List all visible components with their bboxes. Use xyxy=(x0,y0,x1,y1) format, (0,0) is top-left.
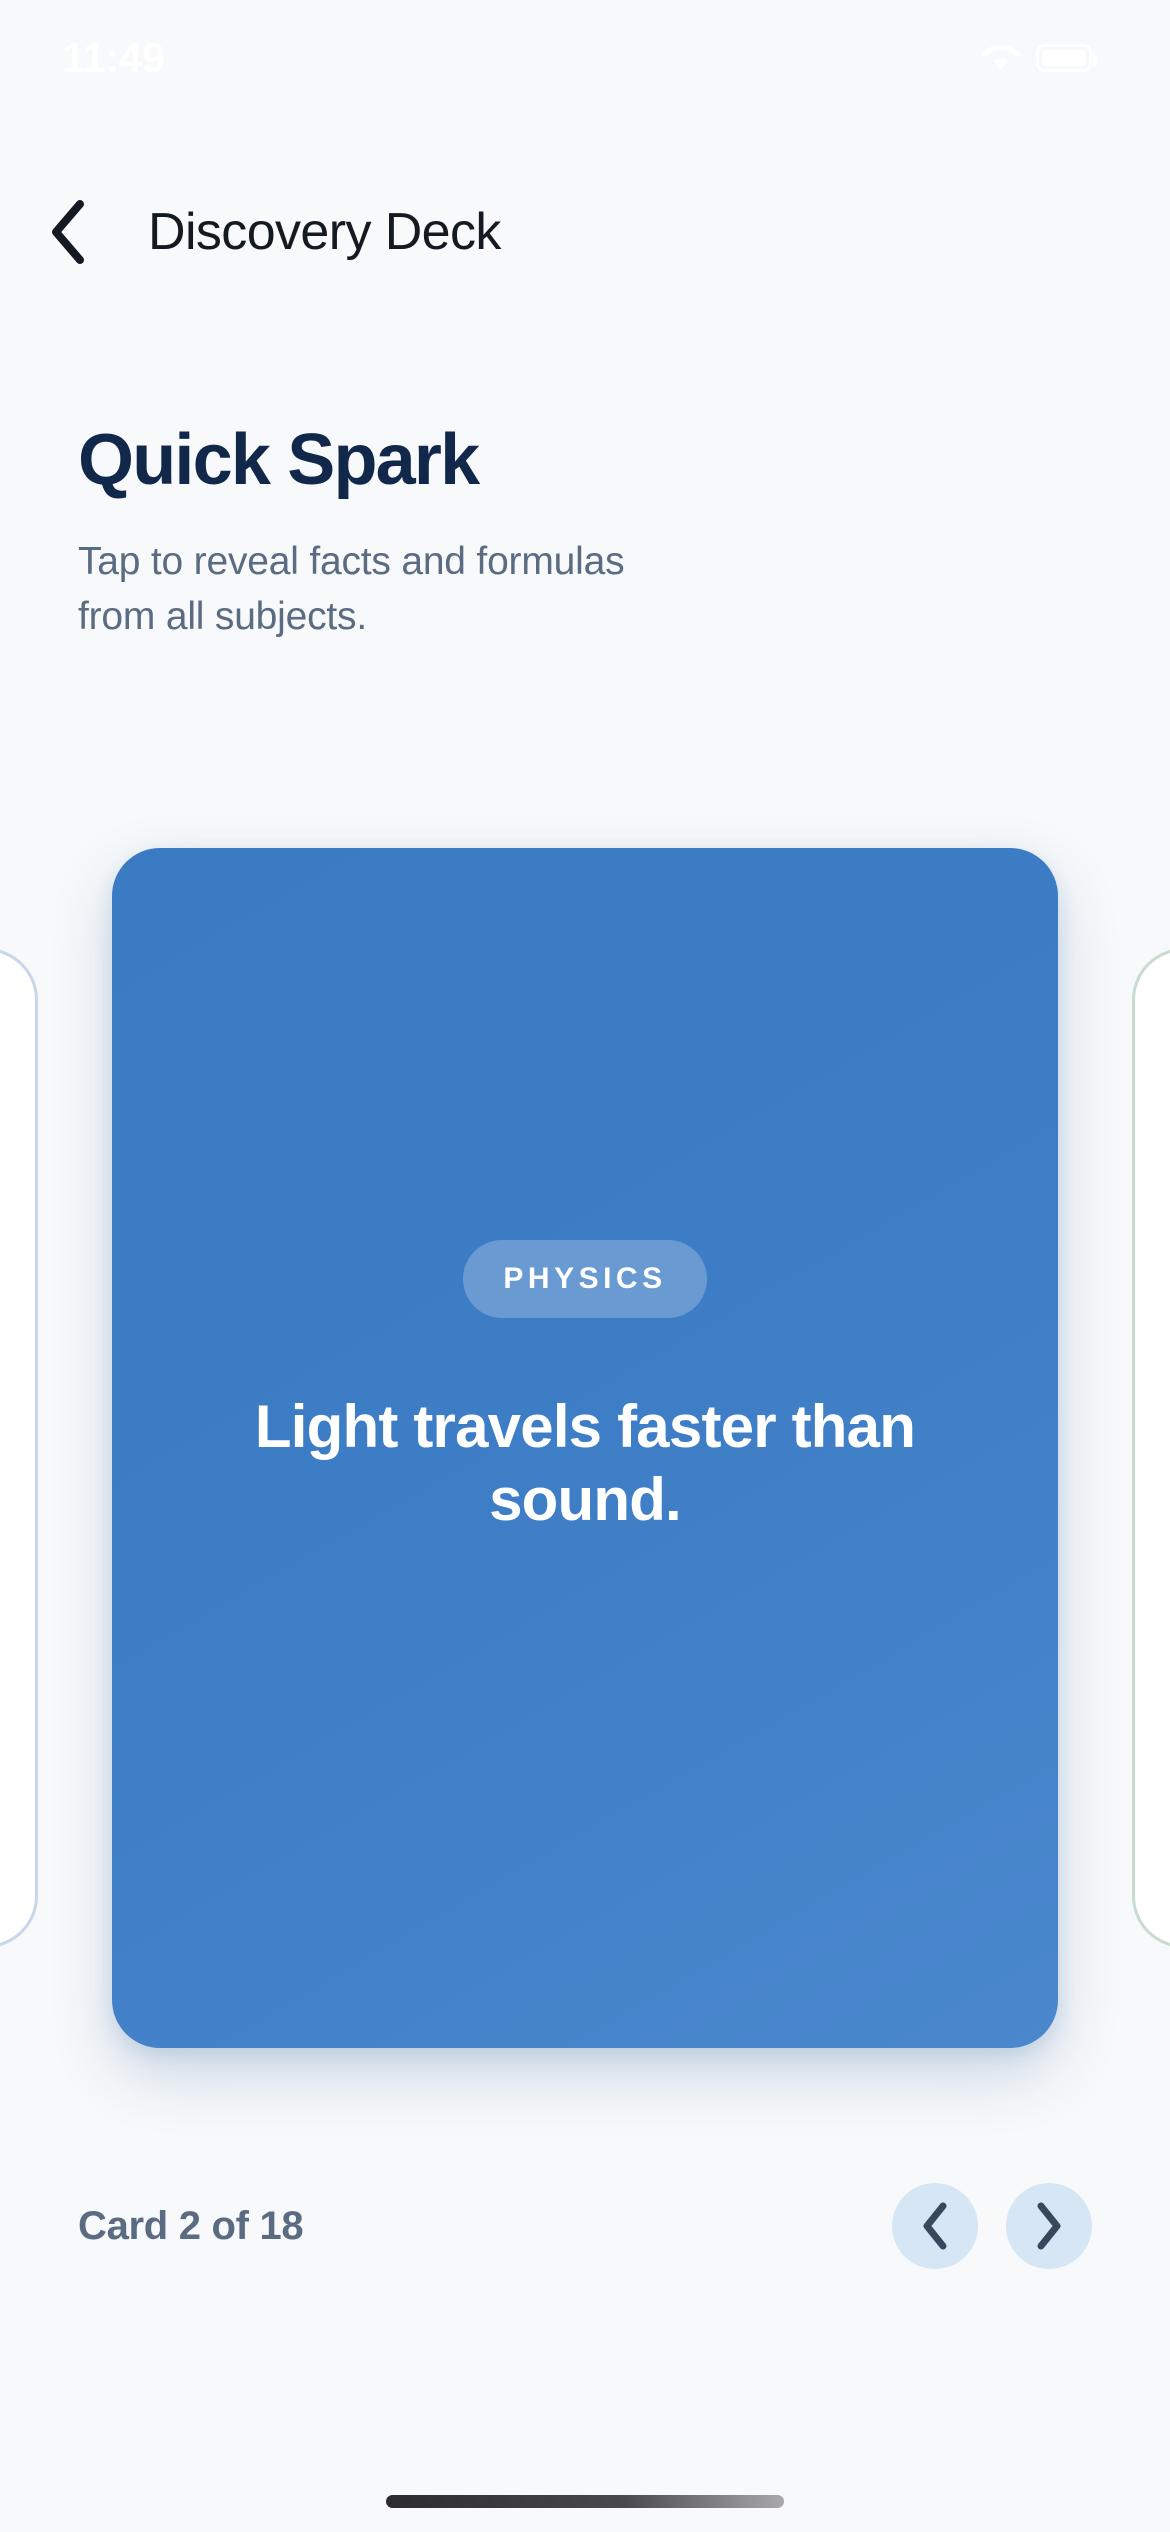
peek-card-next[interactable] xyxy=(1132,948,1170,1948)
deck-footer: Card 2 of 18 xyxy=(0,2168,1170,2284)
subject-badge: PHYSICS xyxy=(463,1240,706,1318)
previous-card-button[interactable] xyxy=(892,2183,978,2269)
home-indicator[interactable] xyxy=(386,2495,784,2508)
peek-card-previous[interactable] xyxy=(0,948,38,1948)
status-bar: 11:49 xyxy=(0,0,1170,100)
next-card-button[interactable] xyxy=(1006,2183,1092,2269)
card-counter: Card 2 of 18 xyxy=(78,2204,303,2249)
battery-icon xyxy=(1036,44,1092,72)
app-screen: 11:49 Discovery Deck Quick Spark Tap to … xyxy=(0,0,1170,2532)
flashcard[interactable]: PHYSICS Light travels faster than sound. xyxy=(112,848,1058,2048)
chevron-right-icon xyxy=(1032,2201,1066,2251)
chevron-left-icon xyxy=(918,2201,952,2251)
wifi-icon xyxy=(980,43,1022,73)
status-bar-indicators xyxy=(980,43,1092,73)
chevron-left-icon xyxy=(46,198,90,266)
card-navigation-controls xyxy=(892,2183,1092,2269)
flashcard-text: Light travels faster than sound. xyxy=(195,1390,975,1536)
card-deck: PHYSICS Light travels faster than sound. xyxy=(0,848,1170,2048)
status-bar-time: 11:49 xyxy=(62,34,165,82)
navigation-bar: Discovery Deck xyxy=(0,172,1170,292)
heading-block: Quick Spark Tap to reveal facts and form… xyxy=(78,424,1092,645)
section-subtitle: Tap to reveal facts and formulas from al… xyxy=(78,534,658,645)
page-title: Discovery Deck xyxy=(148,202,501,262)
back-button[interactable] xyxy=(20,184,116,280)
section-title: Quick Spark xyxy=(78,424,1092,496)
